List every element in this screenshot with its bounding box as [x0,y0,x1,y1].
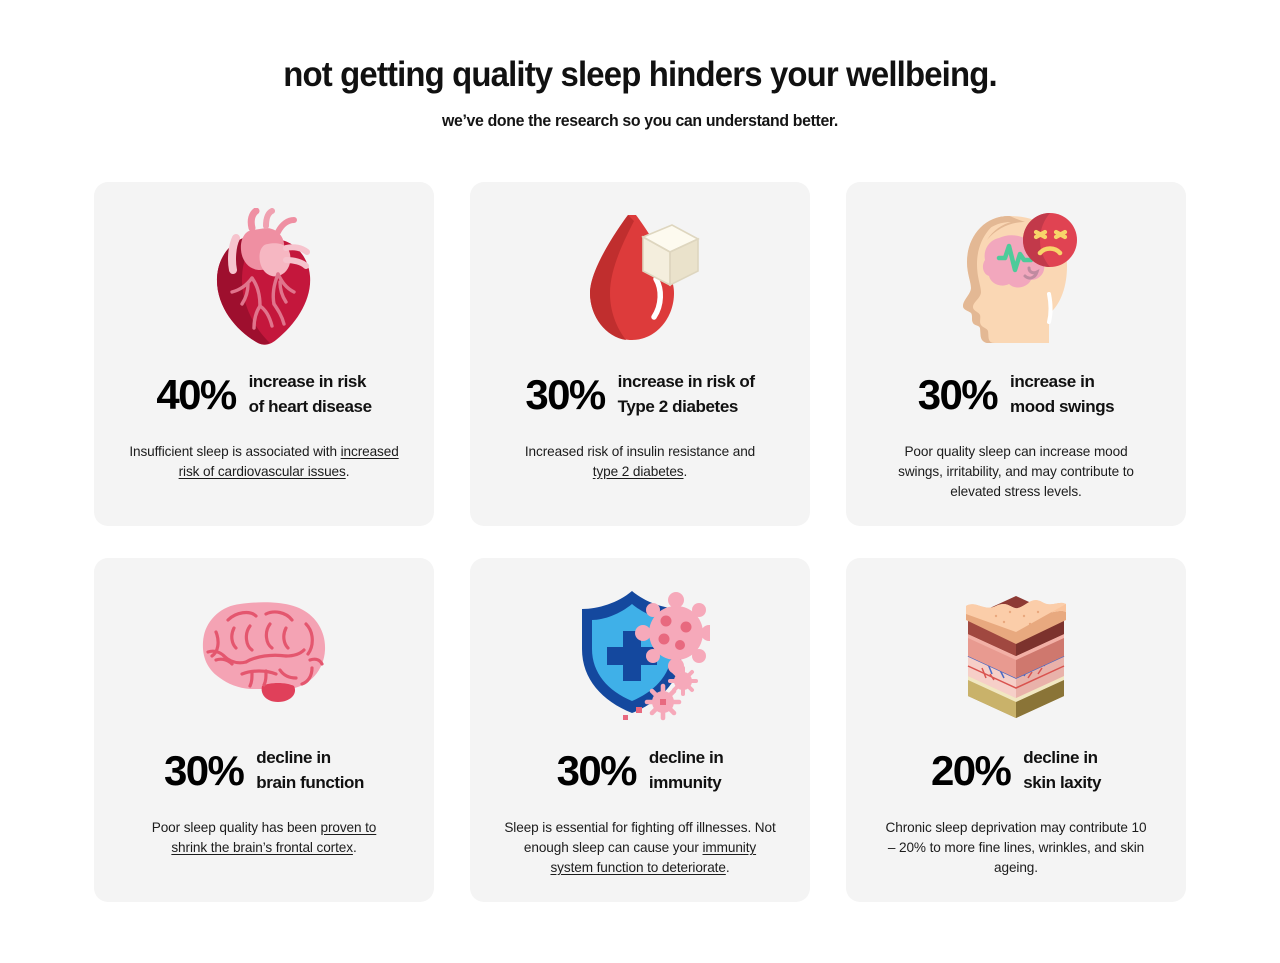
stat-card-type-2-diabetes: 30% increase in risk of Type 2 diabetes … [470,182,810,526]
stat-card-immunity: 30% decline in immunity Sleep is essenti… [470,558,810,902]
stat-row: 30% decline in immunity [557,746,724,796]
stat-card-mood-swings: 30% increase in mood swings Poor quality… [846,182,1186,526]
desc-tail: . [346,464,350,479]
desc-text: Chronic sleep deprivation may contribute… [886,820,1147,875]
stat-label: decline in brain function [256,746,364,796]
card-description: Poor quality sleep can increase mood swi… [896,442,1136,502]
stat-row: 40% increase in risk of heart disease [156,370,371,420]
heart-icon [94,182,434,368]
stat-row: 30% increase in risk of Type 2 diabetes [525,370,754,420]
brain-icon [94,558,434,744]
desc-text: Insufficient sleep is associated with [129,444,340,459]
stats-grid: 40% increase in risk of heart disease In… [94,182,1186,902]
stat-card-skin-laxity: 20% decline in skin laxity Chronic sleep… [846,558,1186,902]
stat-percent: 20% [931,750,1010,792]
virus-small-2 [647,686,679,718]
desc-tail: . [684,464,688,479]
card-description: Insufficient sleep is associated with in… [119,442,409,482]
desc-text: Poor sleep quality has been [152,820,321,835]
stat-row: 30% increase in mood swings [918,370,1114,420]
desc-text: Poor quality sleep can increase mood swi… [898,444,1134,499]
skin-layers-icon [846,558,1186,744]
stat-label: increase in risk of heart disease [249,370,372,420]
desc-text: Increased risk of insulin resistance and [525,444,755,459]
card-description: Poor sleep quality has been proven to sh… [139,818,389,858]
stat-percent: 40% [156,374,235,416]
head-mood-icon [846,182,1186,368]
shield-virus-icon [470,558,810,744]
stat-percent: 30% [918,374,997,416]
blood-drop-sugar-icon [470,182,810,368]
stat-label: decline in skin laxity [1023,746,1101,796]
page-subtitle: we’ve done the research so you can under… [26,112,1255,131]
page-header: not getting quality sleep hinders your w… [0,0,1280,131]
stat-card-brain-function: 30% decline in brain function Poor sleep… [94,558,434,902]
stat-label: increase in risk of Type 2 diabetes [618,370,755,420]
stat-card-heart-disease: 40% increase in risk of heart disease In… [94,182,434,526]
stat-label: increase in mood swings [1010,370,1114,420]
card-description: Chronic sleep deprivation may contribute… [883,818,1149,878]
card-description: Increased risk of insulin resistance and… [518,442,763,482]
infographic-page: not getting quality sleep hinders your w… [0,0,1280,963]
stat-percent: 30% [557,750,636,792]
stat-label: decline in immunity [649,746,723,796]
desc-tail: . [353,840,357,855]
stat-row: 30% decline in brain function [164,746,364,796]
desc-tail: . [726,860,730,875]
desc-link[interactable]: type 2 diabetes [593,464,684,479]
page-title: not getting quality sleep hinders your w… [38,56,1241,95]
card-description: Sleep is essential for fighting off illn… [504,818,776,878]
stat-percent: 30% [164,750,243,792]
stat-percent: 30% [525,374,604,416]
stat-row: 20% decline in skin laxity [931,746,1101,796]
